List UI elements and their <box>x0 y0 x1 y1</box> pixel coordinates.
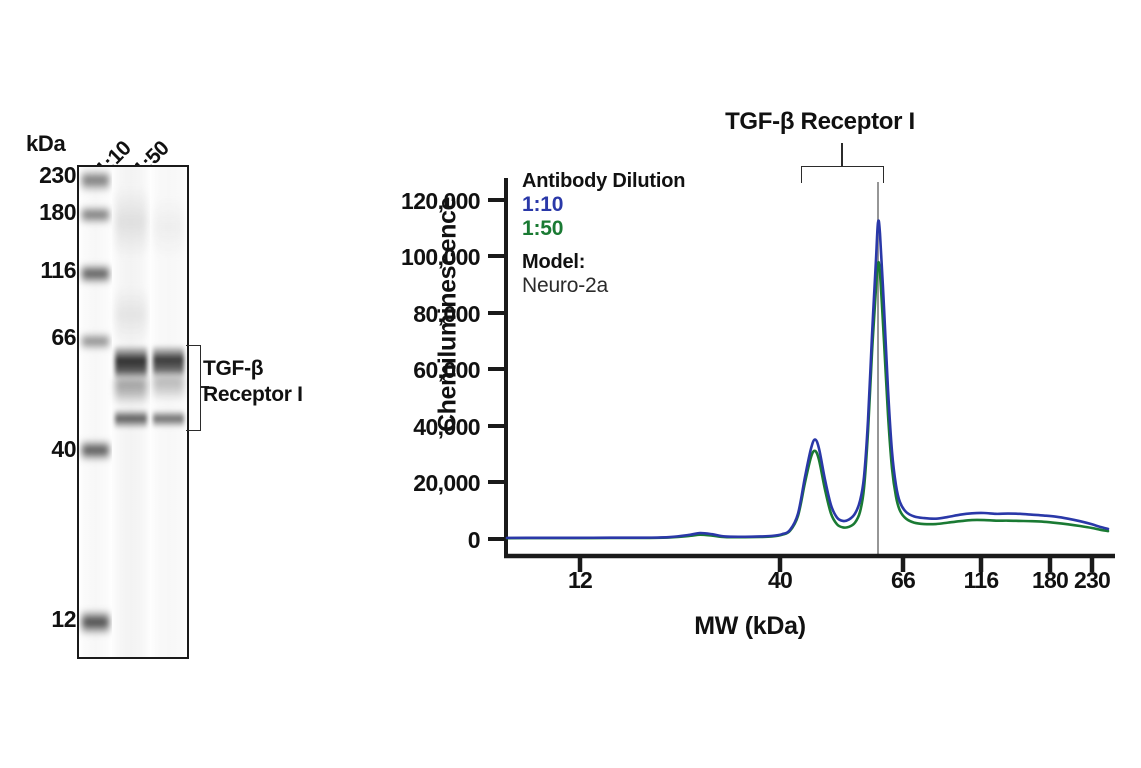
mw-label-116: 116 <box>20 257 76 284</box>
lane-1-50-band-main <box>153 345 184 379</box>
lane-1-10-smear-mid <box>115 287 147 342</box>
ladder-band-116 <box>82 264 110 284</box>
ladder-band-12 <box>82 610 110 635</box>
ladder-band-66 <box>82 333 110 350</box>
lane-1-10-band-main <box>115 345 147 381</box>
lane-1-50-band-shoulder <box>153 377 184 401</box>
electropherogram-panel: TGF-β Receptor I Chemiluminescence 0 20,… <box>340 0 1141 768</box>
plot-svg <box>340 0 1141 768</box>
lane-1-50-smear-high <box>153 197 184 257</box>
ladder-band-230 <box>82 170 110 192</box>
western-blot-panel: kDa 230 180 116 66 40 12 1:10 1:50 <box>0 0 340 700</box>
lane-1-10-band-lower <box>115 409 147 429</box>
blot-bracket <box>186 345 201 431</box>
lane-1-10-smear-high <box>115 187 147 257</box>
blot-lane-1-50 <box>150 167 187 657</box>
mw-label-12: 12 <box>20 606 76 633</box>
blot-image <box>77 165 189 659</box>
ladder-band-180 <box>82 206 110 224</box>
blot-lane-1-10 <box>112 167 150 657</box>
x-axis-ticks <box>580 556 1092 572</box>
blot-bracket-label-line1: TGF-β <box>203 356 303 382</box>
ladder-band-40 <box>82 440 110 461</box>
blot-bracket-label-line2: Receptor I <box>203 382 303 408</box>
lane-1-50-band-lower <box>153 410 184 428</box>
blot-bracket-label: TGF-β Receptor I <box>203 356 303 408</box>
mw-label-180: 180 <box>20 199 76 226</box>
kda-header: kDa <box>26 131 65 157</box>
blot-lane-ladder <box>79 167 112 657</box>
plot-series <box>507 220 1108 538</box>
trace-1-50 <box>507 262 1108 538</box>
mw-label-66: 66 <box>20 324 76 351</box>
mw-label-230: 230 <box>20 162 76 189</box>
trace-1-10 <box>507 220 1108 537</box>
mw-label-40: 40 <box>20 436 76 463</box>
figure-root: kDa 230 180 116 66 40 12 1:10 1:50 <box>0 0 1141 768</box>
lane-1-10-band-shoulder <box>115 379 147 405</box>
